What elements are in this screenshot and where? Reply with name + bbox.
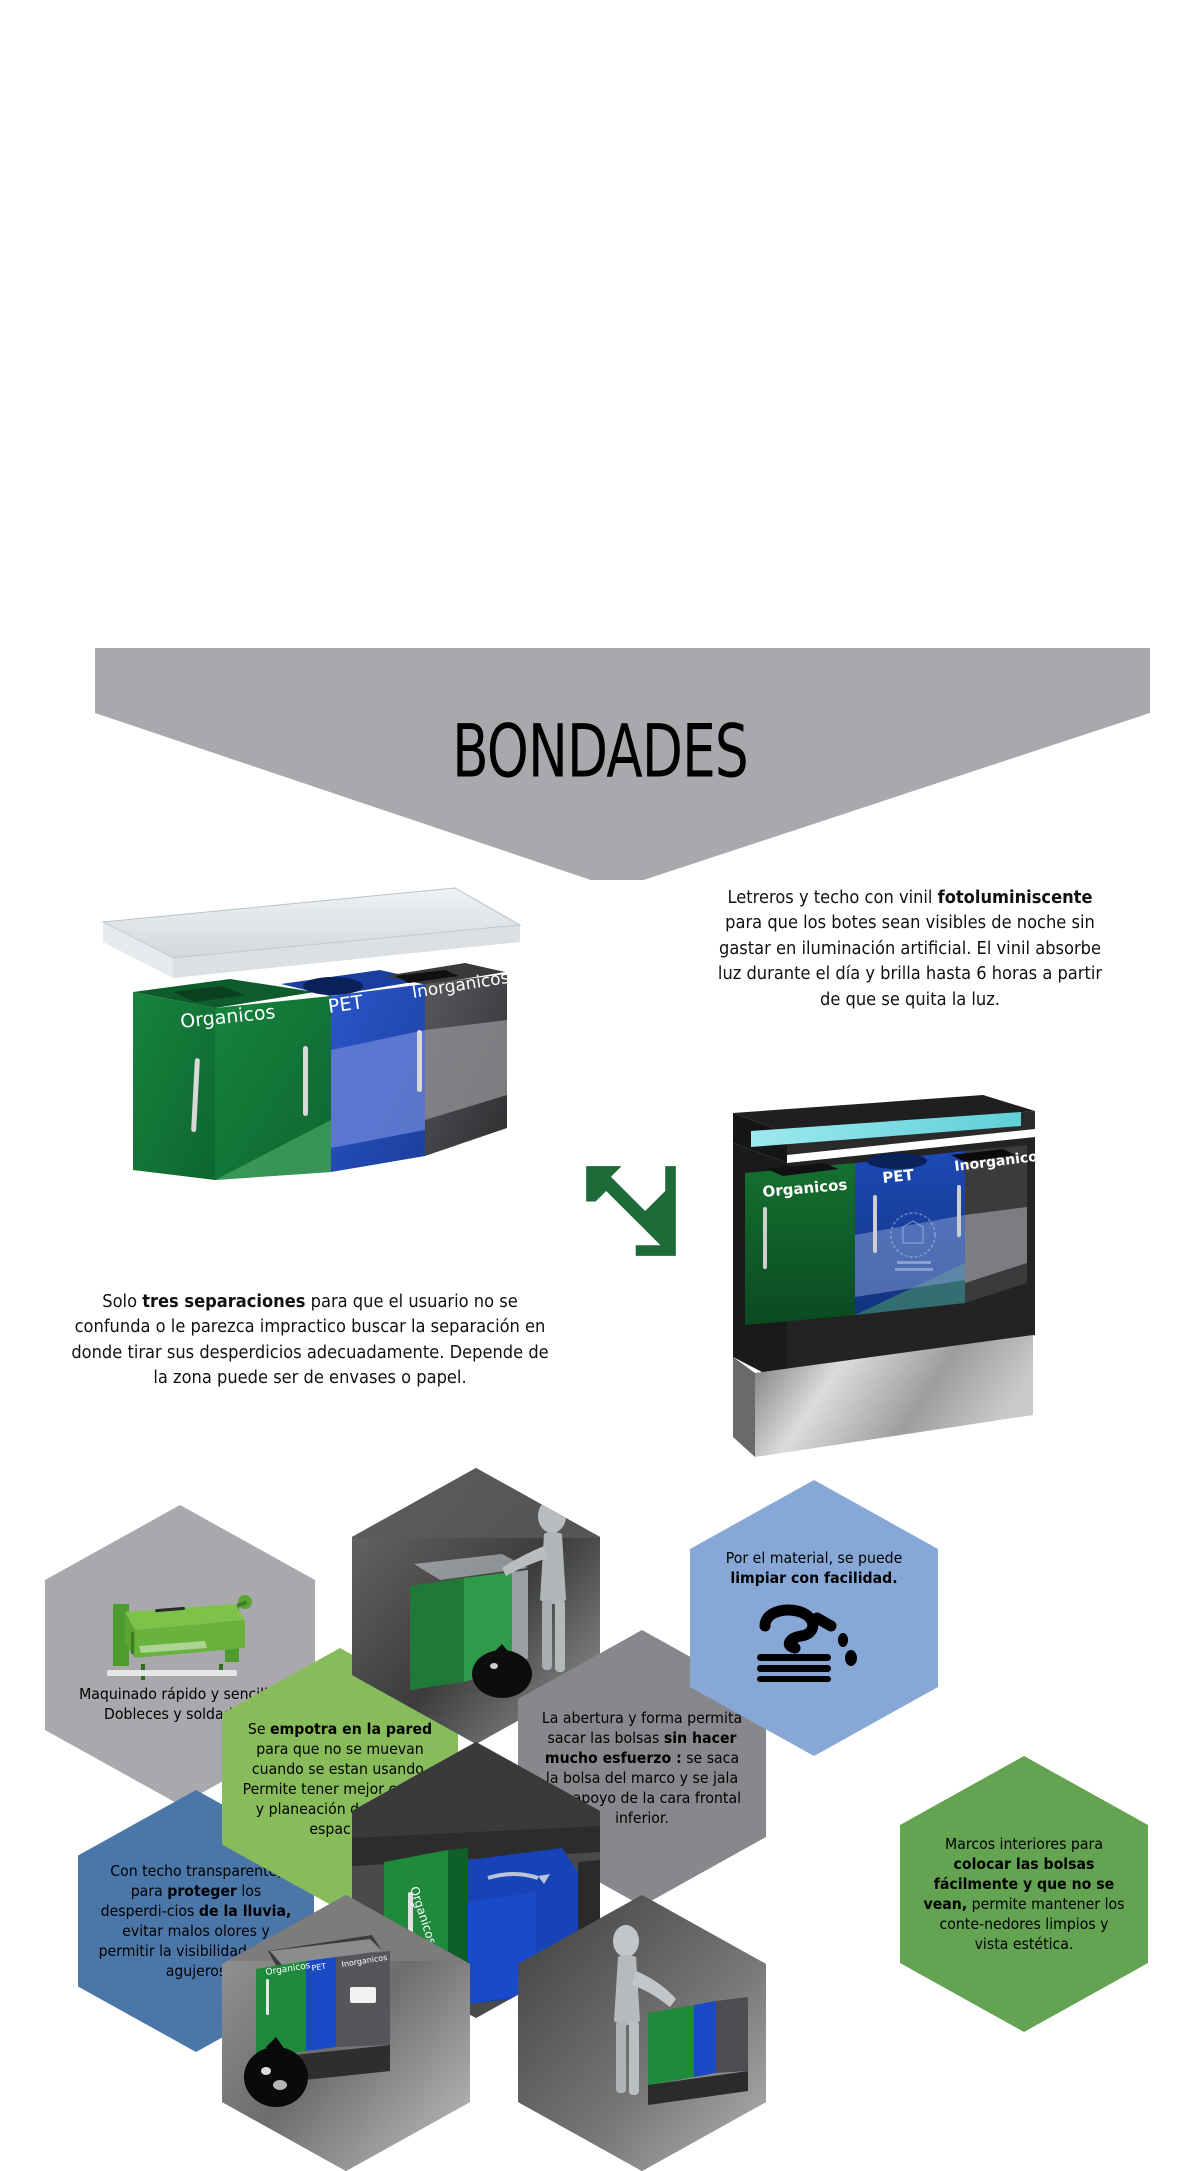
text-emphasis: empotra en la pared xyxy=(270,1720,432,1738)
text-part: para que los botes sean visibles de noch… xyxy=(718,913,1102,1009)
text-part: Solo xyxy=(102,1292,142,1312)
text-emphasis: limpiar con facilidad. xyxy=(730,1569,897,1587)
svg-text:PET: PET xyxy=(882,1166,916,1187)
bin-render-night: Organicos PET Inorganicos xyxy=(715,1085,1105,1485)
hex-marcos-interiores-text: Marcos interiores para colocar las bolsa… xyxy=(907,1834,1140,1955)
bin-night-illustration: Organicos PET Inorganicos xyxy=(715,1085,1105,1485)
bin-handle-pet xyxy=(303,1046,308,1116)
hose-water-drops-icon xyxy=(739,1596,889,1682)
paragraph-fotoluminiscente: Letreros y techo con vinil fotoluminisce… xyxy=(715,886,1106,1013)
swap-arrow xyxy=(572,1152,690,1270)
hex-limpiar-facilidad-text: Por el material, se puede limpiar con fa… xyxy=(697,1548,930,1588)
text-emphasis: proteger xyxy=(167,1882,237,1900)
text-emphasis: fotoluminiscente xyxy=(938,888,1093,908)
bin-render-day: Organicos PET Inorganicos xyxy=(95,880,525,1190)
page-title: BONDADES xyxy=(84,708,1116,794)
text-emphasis: de la lluvia, xyxy=(199,1902,291,1920)
text-part: Por el material, se puede xyxy=(726,1549,902,1567)
hex-marcos-interiores: Marcos interiores para colocar las bolsa… xyxy=(900,1756,1148,2032)
text-emphasis: tres separaciones xyxy=(142,1292,305,1312)
bin-day-illustration: Organicos PET Inorganicos xyxy=(95,880,525,1190)
paragraph-tres-separaciones: Solo tres separaciones para que el usuar… xyxy=(68,1290,552,1392)
bin-handle-inorganicos xyxy=(417,1030,422,1092)
double-headed-diagonal-arrow-icon xyxy=(572,1152,690,1270)
text-part: Marcos interiores para xyxy=(945,1835,1103,1853)
text-part: Se xyxy=(248,1720,270,1738)
bending-machine-icon xyxy=(95,1586,265,1682)
text-part: Letreros y techo con vinil xyxy=(727,888,937,908)
text-part: permite mantener los conte-nedores limpi… xyxy=(939,1895,1124,1953)
